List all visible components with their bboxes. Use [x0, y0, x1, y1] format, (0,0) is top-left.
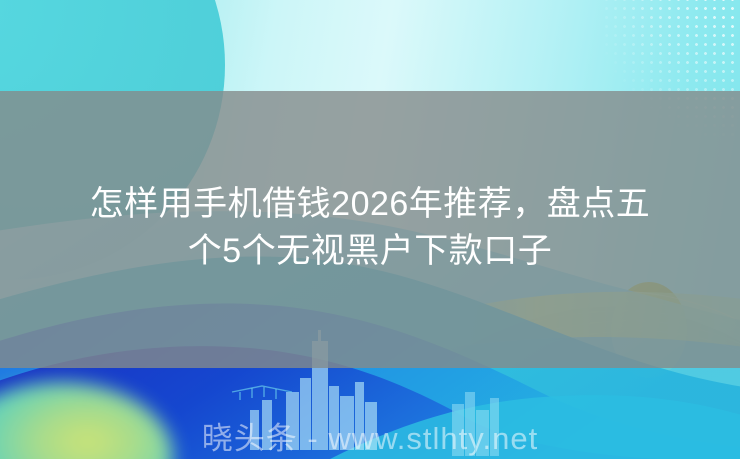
cover-banner: 怎样用手机借钱2026年推荐，盘点五 个5个无视黑户下款口子 晓头条 - www… [0, 0, 740, 459]
bridge-detail [232, 386, 292, 400]
watermark: 晓头条 - www.stlhty.net [0, 419, 740, 459]
page-title: 怎样用手机借钱2026年推荐，盘点五 个5个无视黑户下款口子 [0, 181, 740, 275]
